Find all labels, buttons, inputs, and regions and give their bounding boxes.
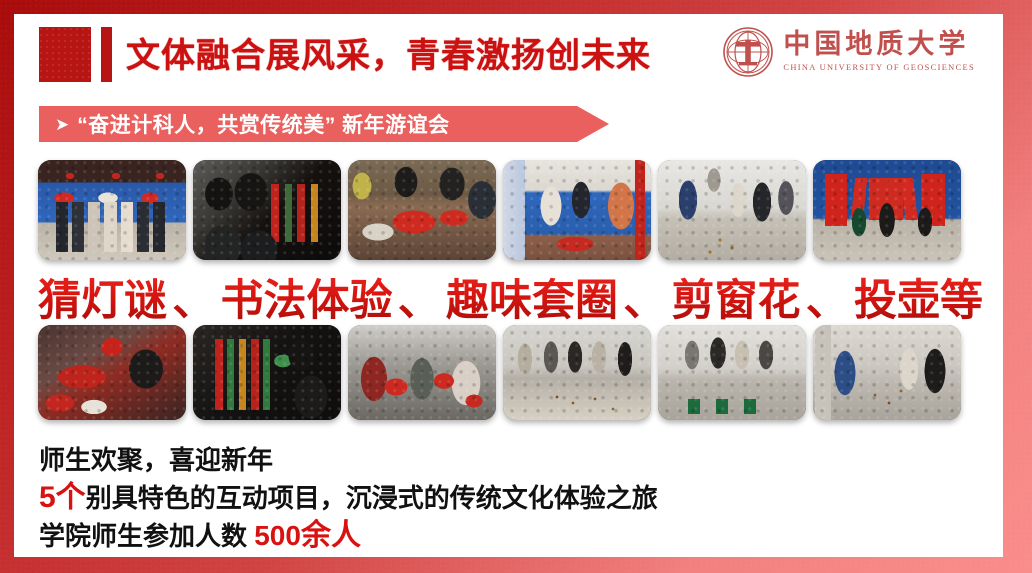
summary-count-participants: 500	[254, 520, 301, 551]
summary-block: 师生欢聚，喜迎新年 5个别具特色的互动项目，沉浸式的传统文化体验之旅 学院师生参…	[39, 441, 969, 555]
activity-item: 书法体验	[221, 276, 393, 326]
photo-thumbnail	[193, 160, 341, 260]
summary-line-3-prefix: 学院师生参加人数	[39, 521, 254, 551]
activity-item: 趣味套圈	[446, 276, 618, 326]
photo-thumbnail	[658, 325, 806, 420]
activity-sep: 、	[398, 276, 441, 326]
arrow-bullet-icon: ➤	[55, 116, 69, 133]
logo-english-name: CHINA UNIVERSITY OF GEOSCIENCES	[783, 62, 975, 74]
photo-thumbnail	[503, 325, 651, 420]
title-accent-block	[39, 27, 91, 82]
summary-count-projects: 5个	[39, 481, 86, 514]
summary-line-3: 学院师生参加人数 500余人	[39, 517, 969, 555]
activity-item: 投壶等	[854, 276, 983, 326]
activity-sep: 、	[806, 276, 849, 326]
page-title: 文体融合展风采，青春激扬创未来	[126, 32, 651, 80]
photo-thumbnail	[503, 160, 651, 260]
summary-line-2: 5个别具特色的互动项目，沉浸式的传统文化体验之旅	[39, 479, 969, 517]
slide-content: 文体融合展风采，青春激扬创未来	[14, 14, 1003, 557]
activity-sep: 、	[623, 276, 666, 326]
photo-thumbnail	[813, 160, 961, 260]
activity-item: 猜灯谜	[38, 276, 167, 326]
subtitle-text: “奋进计科人，共赏传统美” 新年游谊会	[77, 109, 449, 139]
photo-thumbnail	[348, 325, 496, 420]
university-seal-icon	[722, 26, 774, 78]
logo-chinese-name: 中国地质大学	[783, 30, 969, 60]
photo-thumbnail	[38, 160, 186, 260]
photo-thumbnail	[38, 325, 186, 420]
subtitle-banner: ➤ “奋进计科人，共赏传统美” 新年游谊会	[39, 106, 609, 142]
summary-line-2-text: 别具特色的互动项目，沉浸式的传统文化体验之旅	[86, 483, 658, 513]
logo-wordmark: 中国地质大学 CHINA UNIVERSITY OF GEOSCIENCES	[783, 30, 975, 74]
photo-thumbnail	[348, 160, 496, 260]
photo-thumbnail	[813, 325, 961, 420]
summary-line-1: 师生欢聚，喜迎新年	[39, 441, 969, 479]
photo-thumbnail	[658, 160, 806, 260]
slide-header: 文体融合展风采，青春激扬创未来	[14, 14, 1003, 102]
slide-frame: 文体融合展风采，青春激扬创未来	[0, 0, 1032, 573]
photo-row-bottom	[38, 325, 961, 420]
activity-sep: 、	[172, 276, 215, 326]
summary-count-suffix: 余人	[301, 519, 361, 552]
title-accent-bar	[101, 27, 112, 82]
activity-item: 剪窗花	[672, 276, 801, 326]
activities-headline: 猜灯谜 、 书法体验 、 趣味套圈 、 剪窗花 、 投壶等	[38, 276, 983, 326]
university-logo: 中国地质大学 CHINA UNIVERSITY OF GEOSCIENCES	[722, 26, 975, 78]
photo-thumbnail	[193, 325, 341, 420]
photo-row-top	[38, 160, 961, 260]
